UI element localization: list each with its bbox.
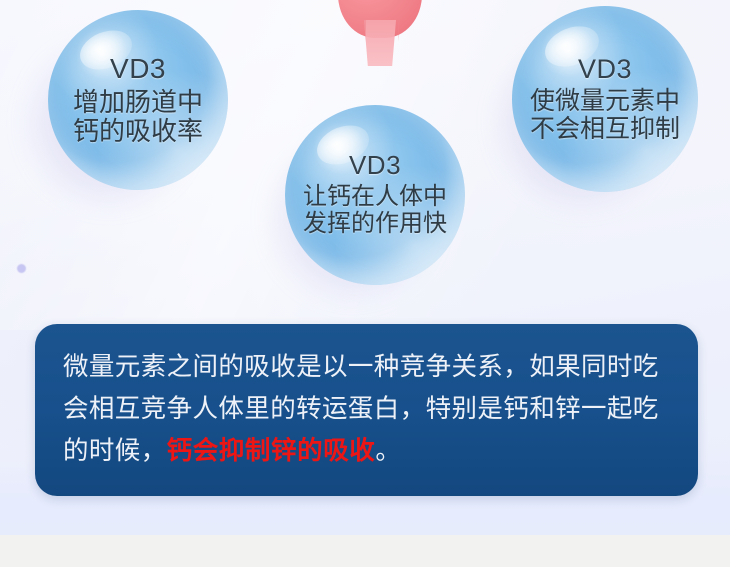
bubble-right: VD3 使微量元素中 不会相互抑制 <box>512 6 698 192</box>
bubble-right-title: VD3 <box>578 55 632 83</box>
bubble-left-line2: 钙的吸收率 <box>73 117 203 146</box>
bubble-middle-line2: 发挥的作用快 <box>303 211 447 238</box>
note-text-emphasis: 钙会抑制锌的吸收 <box>167 437 376 465</box>
bubble-right-line2: 不会相互抑制 <box>530 115 680 143</box>
bubble-left-title: VD3 <box>110 54 166 83</box>
infographic-stage: VD3 增加肠道中 钙的吸收率 VD3 让钙在人体中 发挥的作用快 VD3 使微… <box>0 0 730 567</box>
dropper-stem-outline <box>364 20 400 66</box>
dropper-graphic <box>338 0 422 66</box>
bubble-left: VD3 增加肠道中 钙的吸收率 <box>48 10 228 190</box>
bubble-middle-title: VD3 <box>349 152 401 179</box>
note-box: 微量元素之间的吸收是以一种竞争关系，如果同时吃会相互竞争人体里的转运蛋白，特别是… <box>35 324 698 496</box>
bubble-middle: VD3 让钙在人体中 发挥的作用快 <box>285 105 465 285</box>
note-text-part2: 。 <box>375 437 401 465</box>
bubble-left-line1: 增加肠道中 <box>73 88 203 117</box>
bubble-middle-line1: 让钙在人体中 <box>303 184 447 211</box>
decorative-dot <box>17 264 26 273</box>
background-footer <box>0 535 730 567</box>
bubble-right-line1: 使微量元素中 <box>530 87 680 115</box>
note-text: 微量元素之间的吸收是以一种竞争关系，如果同时吃会相互竞争人体里的转运蛋白，特别是… <box>63 346 670 472</box>
